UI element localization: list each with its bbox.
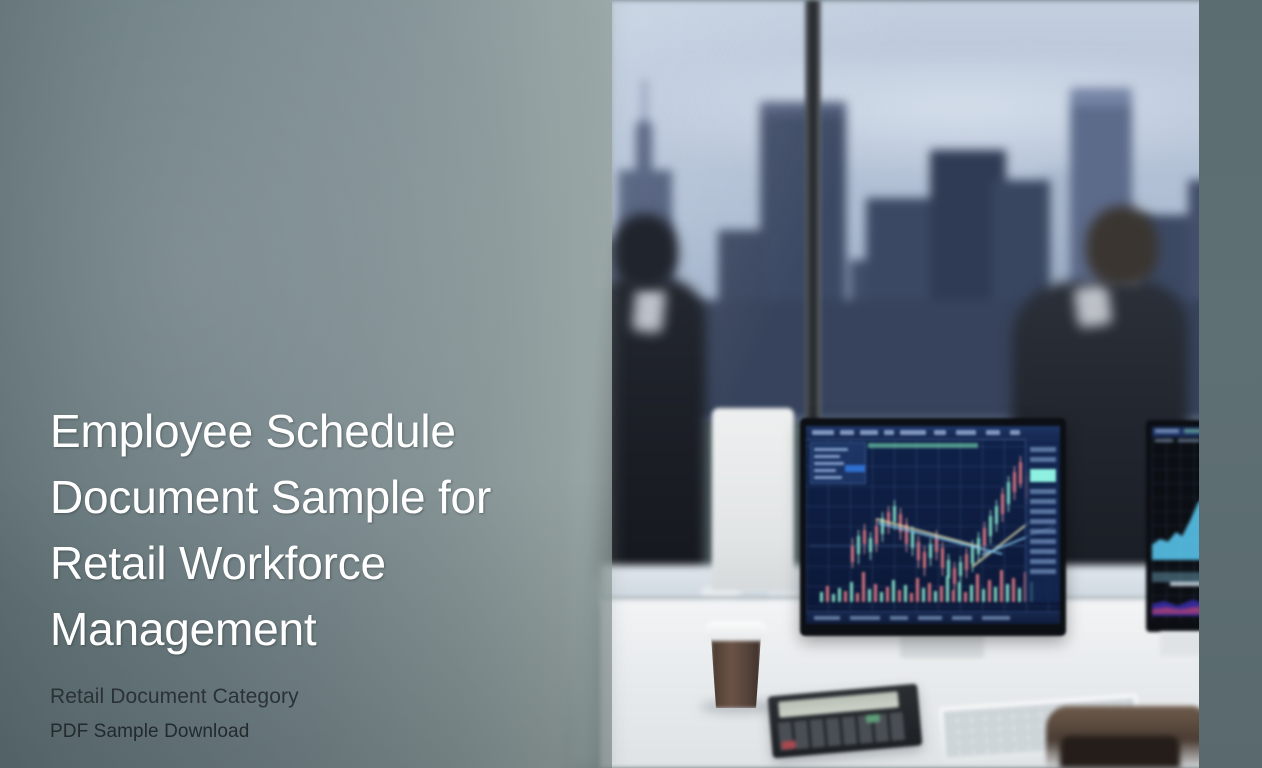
window-mullion [805,0,821,430]
businessman-left-collar [632,287,666,334]
office-chair-base [1060,736,1180,768]
coffee-cup-body [711,636,761,708]
chart-info-panel [810,442,866,484]
document-category: Retail Document Category [50,662,590,712]
trading-screen [806,426,1060,624]
chart-symbol-label [868,443,978,448]
document-cover-page: Employee Schedule Document Sample for Re… [0,0,1262,768]
cover-text-block: Employee Schedule Document Sample for Re… [50,398,590,746]
calculator [768,684,923,759]
calculator-red-key [782,740,797,749]
businessman-right-collar [1073,284,1112,328]
calculator-keys [778,712,908,751]
businessman-right-head [1086,206,1158,286]
chart-statusbar [806,611,1060,624]
document-subtitle: PDF Sample Download [50,712,590,746]
right-color-band [1199,0,1262,768]
page-title: Employee Schedule Document Sample for Re… [50,398,520,662]
coffee-cup-lid [705,621,767,641]
calculator-green-key [866,714,881,723]
chart-sidebar [1025,439,1060,602]
businessman-left-head [612,214,678,288]
silver-monitor-back [712,408,794,590]
volume-panel [810,545,1024,602]
chart-toolbar [806,426,1060,440]
trading-monitor [800,418,1066,636]
